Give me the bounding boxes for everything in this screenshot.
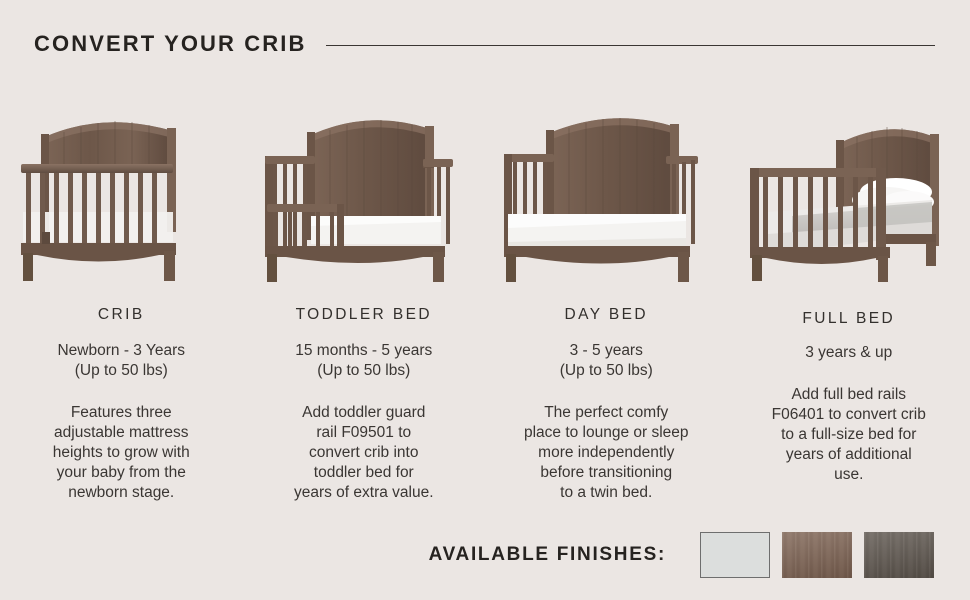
toddler-bed-illustration — [251, 104, 476, 289]
stage-age-range: 15 months - 5 years (Up to 50 lbs) — [295, 341, 432, 381]
stage-title: TODDLER BED — [296, 307, 432, 323]
stage-crib: CRIB Newborn - 3 Years (Up to 50 lbs) Fe… — [0, 104, 243, 503]
stage-full-bed: FULL BED 3 years & up Add full bed rails… — [728, 104, 970, 485]
stage-toddler-bed: TODDLER BED 15 months - 5 years (Up to 5… — [243, 104, 486, 503]
stage-title: CRIB — [98, 307, 145, 323]
stage-description: Add full bed rails F06401 to convert cri… — [743, 385, 955, 485]
stage-age-range: 3 - 5 years (Up to 50 lbs) — [560, 341, 653, 381]
page-title: CONVERT YOUR CRIB — [34, 33, 306, 55]
finish-swatch-white[interactable] — [700, 532, 770, 578]
available-finishes: AVAILABLE FINISHES: — [0, 527, 970, 582]
stage-description: Add toddler guard rail F09501 to convert… — [261, 403, 466, 503]
swatch-sheen — [782, 532, 852, 578]
conversion-stages: CRIB Newborn - 3 Years (Up to 50 lbs) Fe… — [0, 104, 970, 503]
stage-day-bed: DAY BED 3 - 5 years (Up to 50 lbs) The p… — [485, 104, 728, 503]
stage-description: Features three adjustable mattress heigh… — [19, 403, 224, 503]
swatch-sheen — [864, 532, 934, 578]
stage-title: DAY BED — [565, 307, 648, 323]
finish-swatch-dark-gray-brown[interactable] — [864, 532, 934, 578]
stage-title: FULL BED — [802, 311, 895, 327]
finishes-label: AVAILABLE FINISHES: — [429, 545, 666, 564]
finish-swatch-brown[interactable] — [782, 532, 852, 578]
stage-description: The perfect comfy place to lounge or sle… — [500, 403, 712, 503]
full-bed-illustration — [736, 104, 961, 289]
stage-age-range: Newborn - 3 Years (Up to 50 lbs) — [57, 341, 185, 381]
crib-illustration — [9, 104, 234, 289]
infographic-page: CONVERT YOUR CRIB — [0, 0, 970, 600]
header: CONVERT YOUR CRIB — [0, 24, 970, 64]
day-bed-illustration — [494, 104, 719, 289]
header-divider — [326, 45, 935, 46]
stage-age-range: 3 years & up — [805, 343, 892, 363]
